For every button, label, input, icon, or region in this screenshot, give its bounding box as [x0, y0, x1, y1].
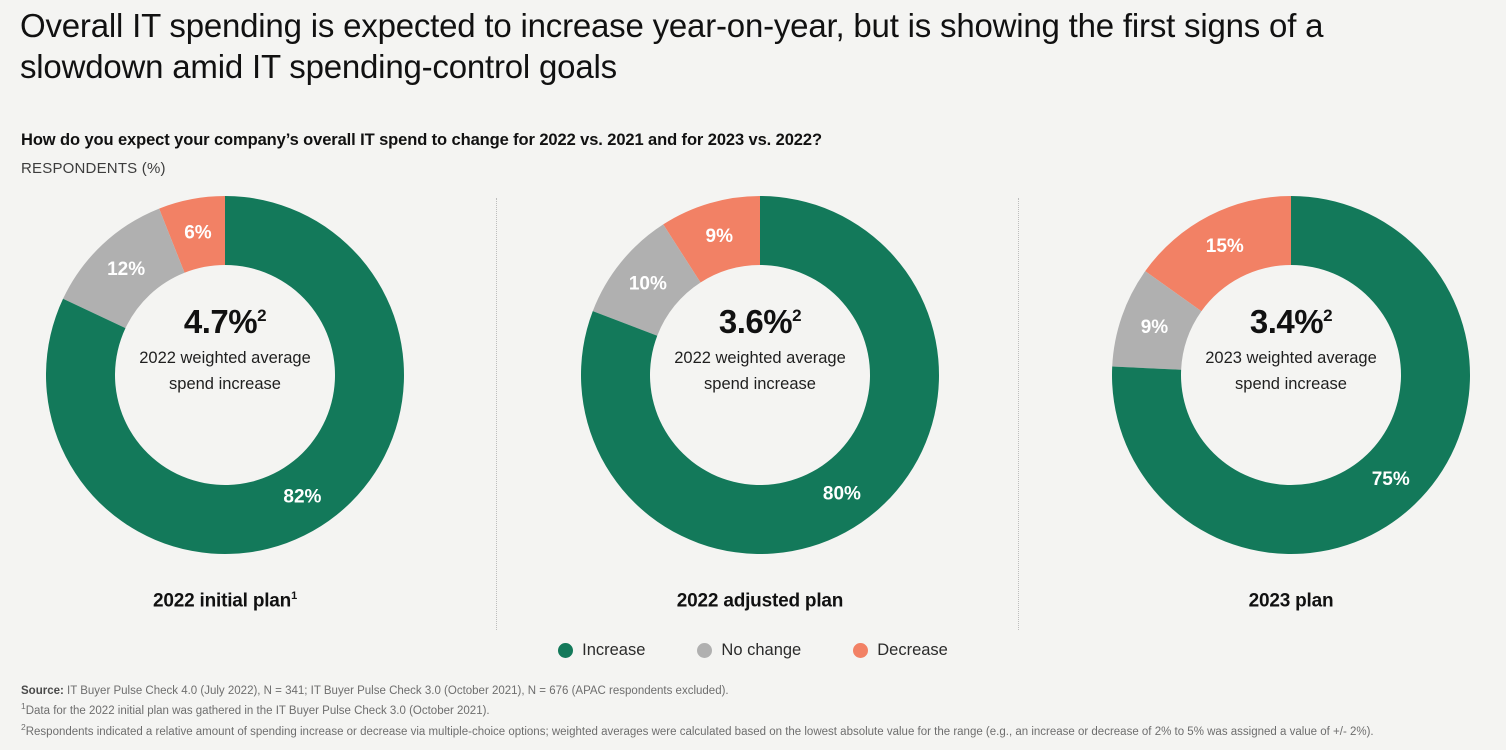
footnote-2-text: Respondents indicated a relative amount …	[26, 726, 1374, 738]
slice-value-label-no-change: 9%	[1141, 317, 1169, 338]
legend-item-no-change[interactable]: No change	[697, 641, 801, 660]
legend-item-increase[interactable]: Increase	[558, 641, 645, 660]
donut-graphic: 6%12%82% 4.7%2 2022 weighted average spe…	[42, 192, 408, 558]
slice-value-label-increase: 75%	[1372, 469, 1410, 490]
legend-label-increase: Increase	[582, 641, 645, 660]
donut-graphic: 15%9%75% 3.4%2 2023 weighted average spe…	[1108, 192, 1474, 558]
donut-graphic: 9%10%80% 3.6%2 2022 weighted average spe…	[577, 192, 943, 558]
chart-title-text: 2022 initial plan	[153, 590, 291, 611]
legend-label-no-change: No change	[721, 641, 801, 660]
donut-charts-row: 6%12%82% 4.7%2 2022 weighted average spe…	[0, 192, 1506, 632]
slice-value-label-decrease: 9%	[706, 226, 734, 247]
slice-value-label-no-change: 10%	[629, 273, 667, 294]
footnote-1-text: Data for the 2022 initial plan was gathe…	[26, 705, 490, 717]
slice-value-label-decrease: 15%	[1206, 236, 1244, 257]
footnote-source: Source: IT Buyer Pulse Check 4.0 (July 2…	[21, 683, 1491, 700]
legend-item-decrease[interactable]: Decrease	[853, 641, 948, 660]
donut-chart-2022-adjusted: 9%10%80% 3.6%2 2022 weighted average spe…	[545, 192, 975, 632]
footnote-source-label: Source:	[21, 685, 64, 697]
donut-svg-1: 9%10%80%	[577, 192, 943, 558]
footnote-1: 1Data for the 2022 initial plan was gath…	[21, 700, 1491, 720]
footnote-source-text: IT Buyer Pulse Check 4.0 (July 2022), N …	[64, 685, 729, 697]
chart-divider-2	[1018, 198, 1019, 630]
donut-chart-2022-initial: 6%12%82% 4.7%2 2022 weighted average spe…	[10, 192, 440, 632]
legend-label-decrease: Decrease	[877, 641, 948, 660]
slice-value-label-increase: 80%	[823, 484, 861, 505]
legend-swatch-no-change-icon	[697, 643, 712, 658]
chart-title-superscript: 1	[291, 590, 297, 602]
chart-title-text: 2023 plan	[1249, 590, 1334, 611]
slice-value-label-increase: 82%	[283, 487, 321, 508]
page-title: Overall IT spending is expected to incre…	[20, 6, 1470, 88]
chart-title: 2022 adjusted plan	[545, 590, 975, 612]
legend-swatch-increase-icon	[558, 643, 573, 658]
legend-swatch-decrease-icon	[853, 643, 868, 658]
slice-value-label-decrease: 6%	[184, 223, 212, 244]
chart-title: 2023 plan	[1076, 590, 1506, 612]
question-subtitle: How do you expect your company’s overall…	[21, 131, 1221, 150]
donut-svg-0: 6%12%82%	[42, 192, 408, 558]
units-label: RESPONDENTS (%)	[21, 160, 166, 177]
chart-title-text: 2022 adjusted plan	[677, 590, 843, 611]
footnotes: Source: IT Buyer Pulse Check 4.0 (July 2…	[21, 683, 1491, 741]
footnote-2: 2Respondents indicated a relative amount…	[21, 721, 1491, 741]
donut-svg-2: 15%9%75%	[1108, 192, 1474, 558]
legend: Increase No change Decrease	[0, 641, 1506, 660]
donut-chart-2023: 15%9%75% 3.4%2 2023 weighted average spe…	[1076, 192, 1506, 632]
chart-title: 2022 initial plan1	[10, 590, 440, 612]
slide-root: Overall IT spending is expected to incre…	[0, 0, 1506, 750]
slice-value-label-no-change: 12%	[107, 259, 145, 280]
chart-divider-1	[496, 198, 497, 630]
